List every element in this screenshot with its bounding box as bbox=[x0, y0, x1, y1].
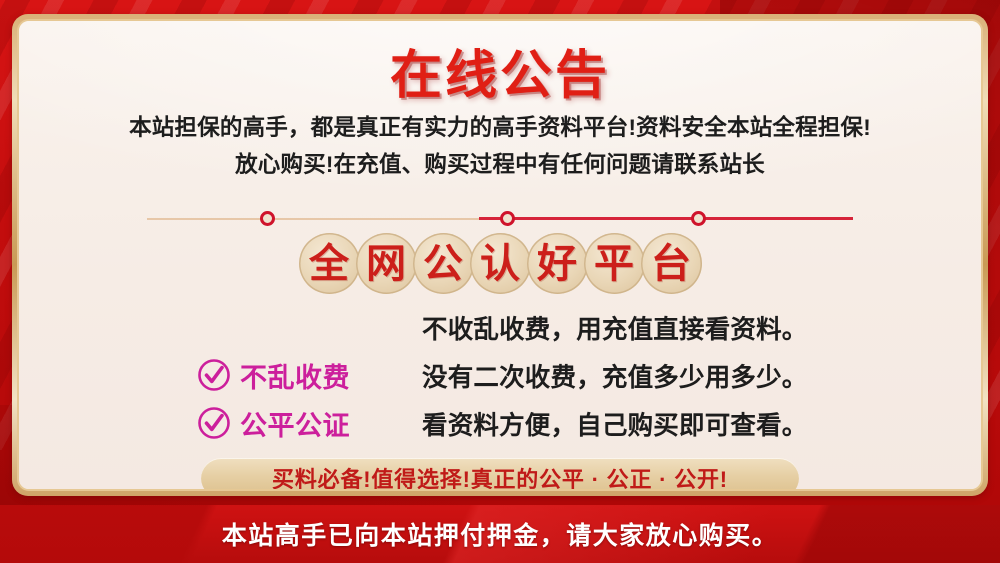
circle-badge-5: 好 bbox=[527, 233, 588, 294]
circle-headline: 全 网 公 认 好 平 bbox=[19, 233, 981, 294]
check-circle-icon bbox=[197, 406, 231, 440]
circle-badge-4: 认 bbox=[470, 233, 531, 294]
circle-char-6: 平 bbox=[594, 244, 634, 284]
circle-char-3: 公 bbox=[423, 244, 463, 284]
circle-badge-2: 网 bbox=[356, 233, 417, 294]
circle-badge-6: 平 bbox=[584, 233, 645, 294]
divider-line-right bbox=[479, 217, 853, 220]
feature-badge-label-3: 公平公证 bbox=[240, 404, 350, 443]
feature-list: 不收乱收费，用充值直接看资料。 不乱收费 没有 bbox=[19, 303, 981, 447]
lead-line-1: 本站担保的高手，都是真正有实力的高手资料平台!资料安全本站全程担保! bbox=[19, 109, 981, 146]
divider bbox=[147, 211, 853, 227]
feature-text-3: 看资料方便，自己购买即可查看。 bbox=[422, 405, 808, 442]
bottom-banner-text: 本站高手已向本站押付押金，请大家放心购买。 bbox=[0, 505, 1000, 563]
divider-dot-icon-3 bbox=[691, 211, 706, 226]
feature-badge-label-2: 不乱收费 bbox=[240, 356, 350, 395]
feature-row-2: 不乱收费 没有二次收费，充值多少用多少。 bbox=[19, 351, 981, 399]
card-inner-border: 在线公告 本站担保的高手，都是真正有实力的高手资料平台!资料安全本站全程担保! … bbox=[17, 19, 983, 491]
circle-badge-3: 公 bbox=[413, 233, 474, 294]
page-title: 在线公告 bbox=[19, 33, 981, 108]
circle-badge-7: 台 bbox=[641, 233, 702, 294]
circle-char-5: 好 bbox=[537, 244, 577, 284]
circle-badge-1: 全 bbox=[299, 233, 360, 294]
circle-char-2: 网 bbox=[366, 244, 406, 284]
card-content: 在线公告 本站担保的高手，都是真正有实力的高手资料平台!资料安全本站全程担保! … bbox=[19, 21, 981, 489]
divider-dot-icon-1 bbox=[260, 211, 275, 226]
feature-text-2: 没有二次收费，充值多少用多少。 bbox=[422, 357, 808, 394]
bottom-banner: 本站高手已向本站押付押金，请大家放心购买。 bbox=[0, 505, 1000, 563]
circle-char-7: 台 bbox=[651, 244, 691, 284]
circle-char-1: 全 bbox=[309, 244, 349, 284]
divider-dot-icon-2 bbox=[500, 211, 515, 226]
highlight-pill: 买料必备!值得选择!真正的公平 · 公正 · 公开! bbox=[201, 458, 799, 491]
circle-char-4: 认 bbox=[480, 244, 520, 284]
feature-row-3: 公平公证 看资料方便，自己购买即可查看。 bbox=[19, 399, 981, 447]
check-circle-icon bbox=[197, 358, 231, 392]
feature-row-1: 不收乱收费，用充值直接看资料。 bbox=[19, 303, 981, 351]
feature-text-1: 不收乱收费，用充值直接看资料。 bbox=[422, 309, 808, 346]
lead-paragraph: 本站担保的高手，都是真正有实力的高手资料平台!资料安全本站全程担保! 放心购买!… bbox=[19, 109, 981, 183]
lead-line-2: 放心购买!在充值、购买过程中有任何问题请联系站长 bbox=[19, 146, 981, 183]
highlight-pill-text: 买料必备!值得选择!真正的公平 · 公正 · 公开! bbox=[272, 462, 728, 491]
feature-badge-3: 公平公证 bbox=[197, 404, 422, 443]
feature-badge-2: 不乱收费 bbox=[197, 356, 422, 395]
announcement-poster: 本站高手已向本站押付押金，请大家放心购买。 在线公告 本站担保的高手，都是真正有… bbox=[0, 0, 1000, 563]
divider-line-left bbox=[147, 218, 479, 220]
announcement-card: 在线公告 本站担保的高手，都是真正有实力的高手资料平台!资料安全本站全程担保! … bbox=[12, 14, 988, 496]
